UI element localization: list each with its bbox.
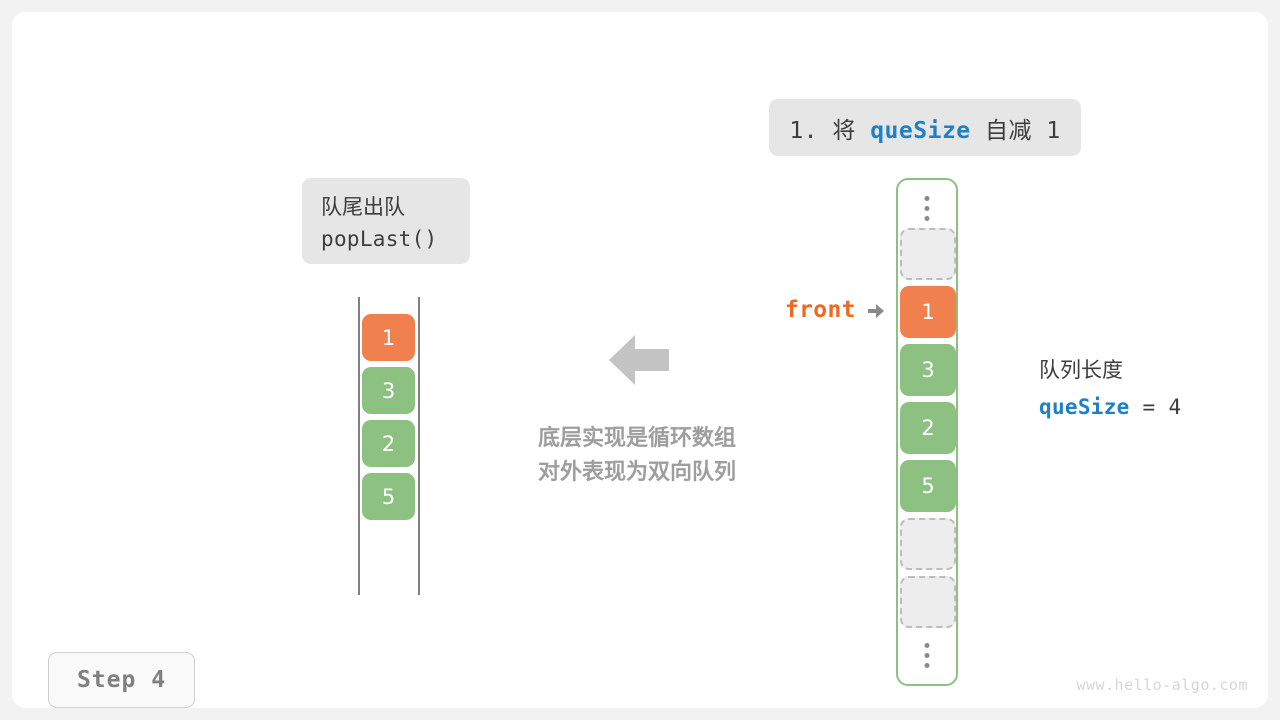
logical-queue-cells: 1325 <box>362 314 415 526</box>
circular-array-cells: 1325 <box>900 228 956 634</box>
step-title-suffix: 自减 1 <box>971 118 1061 144</box>
queue-size-info: 队列长度 queSize = 4 <box>1039 352 1181 426</box>
queue-rail-left <box>358 297 360 595</box>
queue-size-keyword: queSize <box>1039 395 1130 419</box>
circular-array: 1325 <box>896 178 958 686</box>
queue-size-expression: queSize = 4 <box>1039 389 1181 426</box>
step-badge: Step 4 <box>48 652 195 708</box>
diagram-canvas: 1. 将 queSize 自减 1 队尾出队 popLast() 1325 底层… <box>12 12 1268 708</box>
operation-name-cn: 队尾出队 <box>321 191 405 221</box>
implementation-note-line2: 对外表现为双向队列 <box>512 456 762 490</box>
array-cell-empty <box>900 518 956 570</box>
arrow-left-icon <box>609 332 669 388</box>
operation-chip: 队尾出队 popLast() <box>302 178 470 264</box>
array-cell: 2 <box>900 402 956 454</box>
step-title-keyword: queSize <box>870 118 970 144</box>
step-title-chip: 1. 将 queSize 自减 1 <box>769 99 1081 156</box>
queue-size-label: 队列长度 <box>1039 352 1181 389</box>
queue-cell: 3 <box>362 367 415 414</box>
queue-cell: 5 <box>362 473 415 520</box>
operation-method-signature: popLast() <box>321 227 438 251</box>
vertical-ellipsis-top-icon <box>925 196 930 221</box>
queue-size-value: = 4 <box>1130 395 1182 419</box>
array-cell: 5 <box>900 460 956 512</box>
queue-cell: 2 <box>362 420 415 467</box>
array-cell: 1 <box>900 286 956 338</box>
watermark: www.hello-algo.com <box>1076 676 1248 694</box>
step-title-prefix: 1. 将 <box>789 118 870 144</box>
implementation-note-line1: 底层实现是循环数组 <box>512 422 762 456</box>
arrow-right-icon <box>868 304 884 318</box>
step-title-text: 1. 将 queSize 自减 1 <box>789 111 1060 145</box>
array-cell-empty <box>900 228 956 280</box>
implementation-note: 底层实现是循环数组 对外表现为双向队列 <box>512 422 762 490</box>
front-pointer-label: front <box>785 297 856 323</box>
array-cell-empty <box>900 576 956 628</box>
array-cell: 3 <box>900 344 956 396</box>
queue-rail-right <box>418 297 420 595</box>
vertical-ellipsis-bottom-icon <box>925 643 930 668</box>
queue-cell: 1 <box>362 314 415 361</box>
